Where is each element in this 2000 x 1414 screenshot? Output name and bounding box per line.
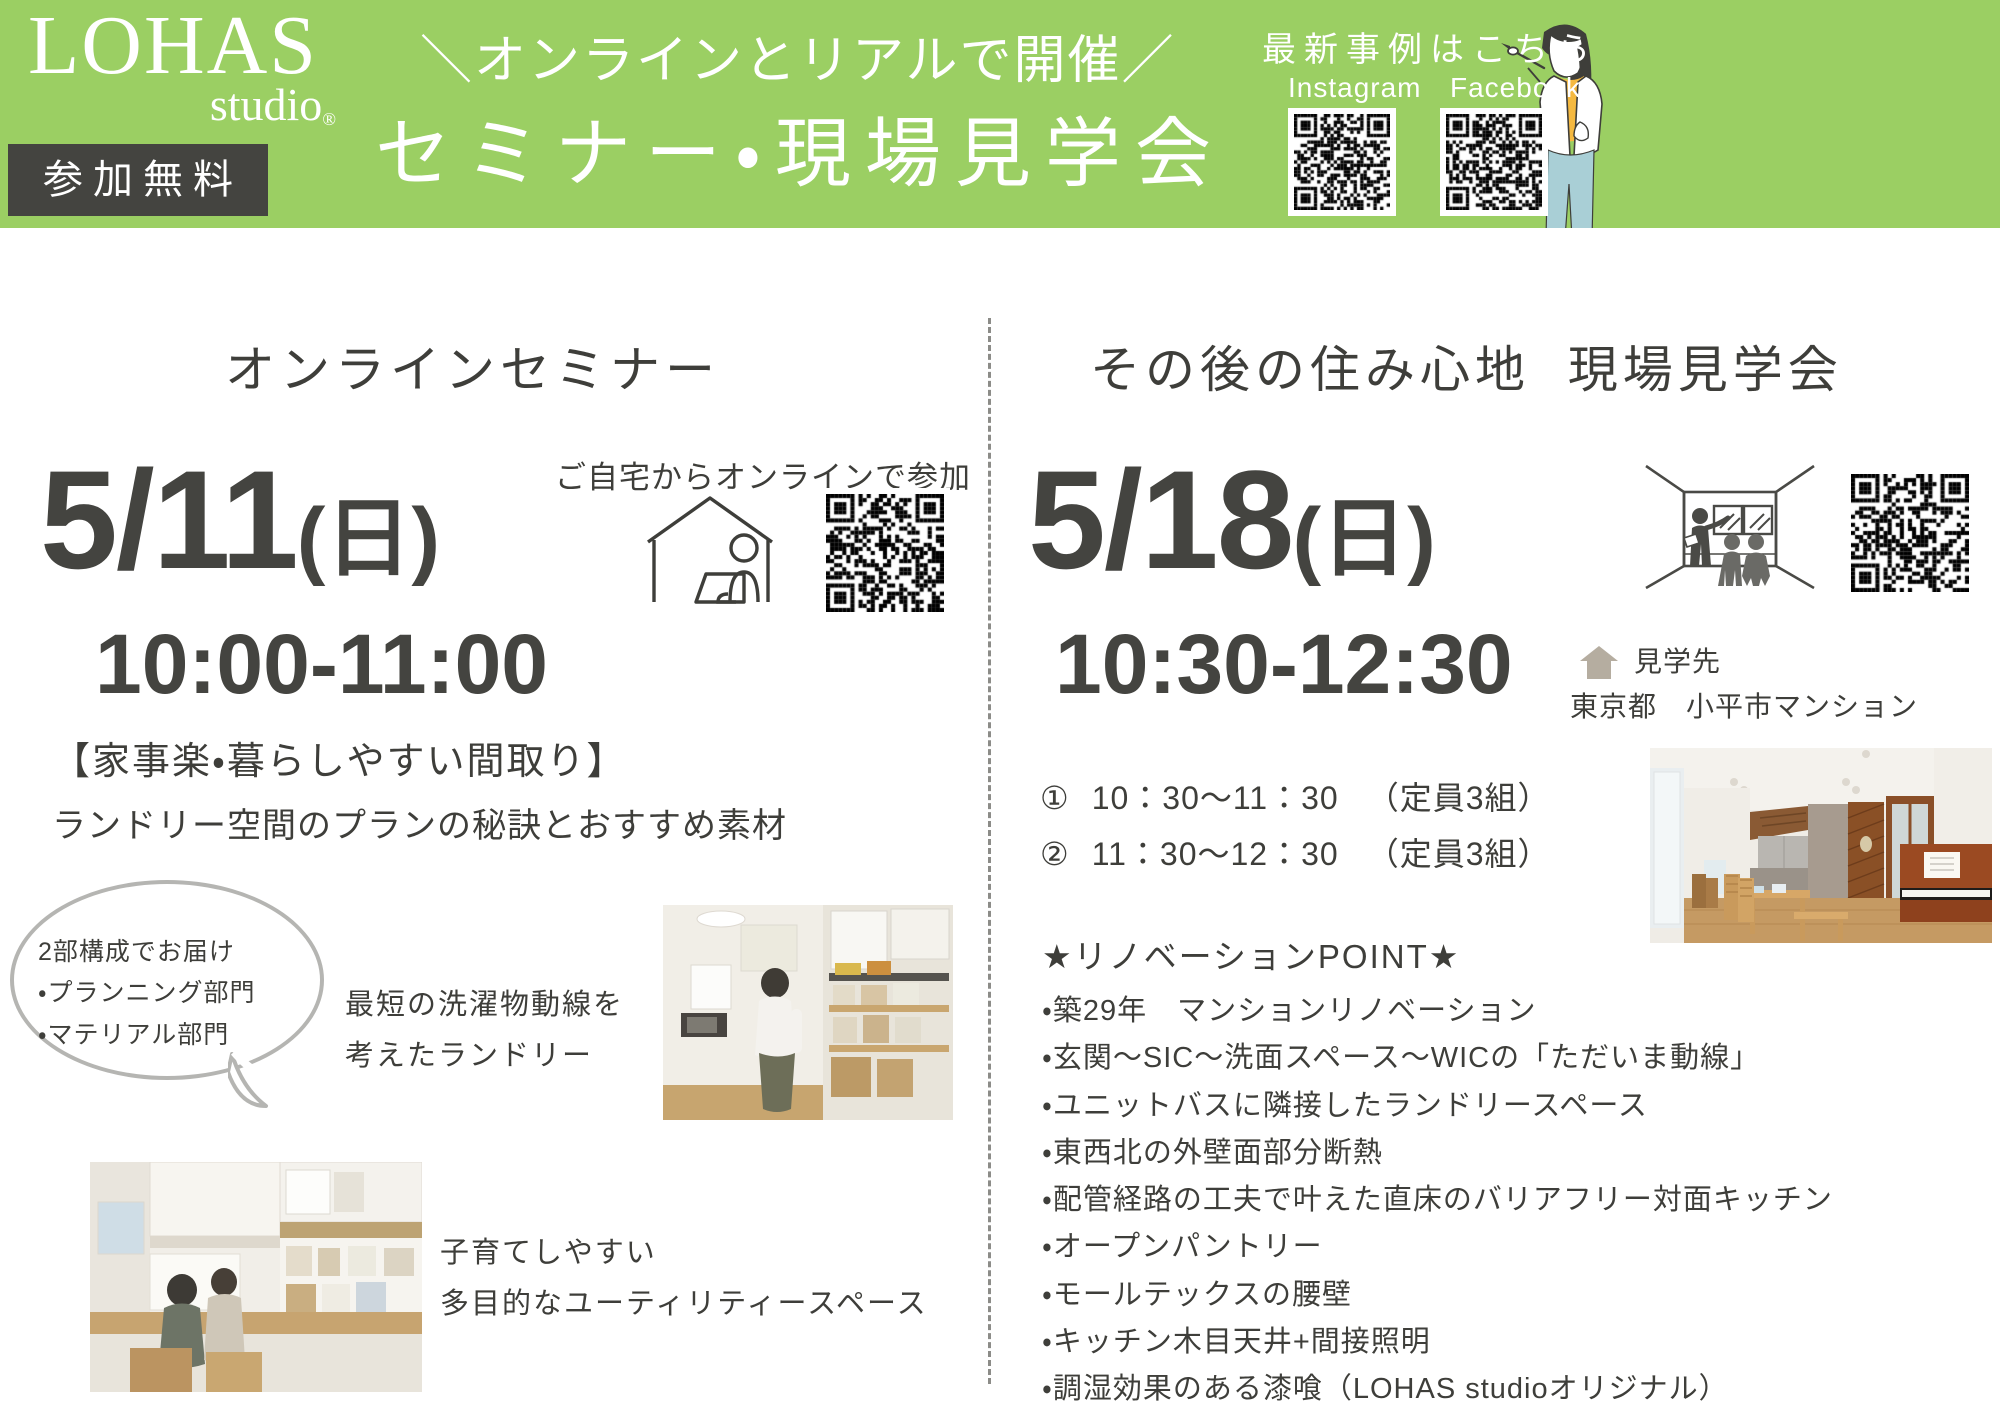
site-tour-time: 10:30-12:30 xyxy=(1055,622,1513,706)
list-item: ・築29年 マンションリノベーション xyxy=(1042,988,1833,1035)
bubble-line-2: ・マテリアル部門 xyxy=(38,1015,318,1056)
living-dining-photo xyxy=(1650,748,1992,943)
header-tagline: ＼オンラインとリアルで開催／ xyxy=(420,18,1140,93)
site-tour-qr-code[interactable] xyxy=(1845,468,1975,598)
laundry-photo-caption: 最短の洗濯物動線を 考えたランドリー xyxy=(345,980,624,1082)
slot-capacity: （定員3組） xyxy=(1367,836,1551,872)
tour-time-slots: ①10：30〜11：30（定員3組） ②11：30〜12：30（定員3組） xyxy=(1040,770,1551,882)
site-tour-heading-a: その後の住み心地 xyxy=(1090,342,1530,398)
renovation-points-list: ・築29年 マンションリノベーション ・玄関〜SIC〜洗面スペース〜WICの「た… xyxy=(1042,988,1833,1413)
seminar-structure-text: 2部構成でお届け ・プランニング部門 ・マテリアル部門 xyxy=(38,932,318,1056)
online-date-value: 5/11 xyxy=(40,441,297,598)
tour-slot-row: ②11：30〜12：30（定員3組） xyxy=(1040,826,1551,882)
bubble-line-0: 2部構成でお届け xyxy=(38,932,318,973)
site-tour-date: 5/18(日) xyxy=(1028,450,1436,590)
slot-number: ② xyxy=(1040,836,1070,872)
kitchen-pantry-photo xyxy=(663,905,953,1120)
free-participation-badge: 参加無料 xyxy=(8,144,268,216)
slot-capacity: （定員3組） xyxy=(1367,780,1551,816)
online-date-weekday: (日) xyxy=(297,491,440,587)
home-online-seminar-icon xyxy=(640,490,810,610)
caption2-line-1: 多目的なユーティリティースペース xyxy=(440,1279,928,1330)
venue-address: 東京都 小平市マンション xyxy=(1570,685,1918,725)
online-seminar-heading: オンラインセミナー xyxy=(225,330,720,402)
slot-time: 10：30〜11：30 xyxy=(1092,780,1339,816)
list-item: ・ユニットバスに隣接したランドリースペース xyxy=(1042,1083,1833,1130)
logo-main-text: LOHAS xyxy=(28,6,388,86)
seminar-flyer: LOHAS studio® 参加無料 ＼オンラインとリアルで開催／ セミナー・現… xyxy=(0,0,2000,1414)
tour-date-value: 5/18 xyxy=(1028,441,1292,598)
sns-label: 最新事例はこちら xyxy=(1262,22,1598,71)
site-tour-icon xyxy=(1640,462,1820,592)
instagram-label: Instagram xyxy=(1288,72,1422,104)
renovation-points-title: ★リノベーションPOINT★ xyxy=(1042,930,1460,978)
online-seminar-qr-code[interactable] xyxy=(820,488,950,618)
header-title: セミナー・現場見学会 xyxy=(375,92,1175,202)
facebook-qr-code[interactable] xyxy=(1440,108,1548,216)
lohas-studio-logo: LOHAS studio® xyxy=(28,6,388,128)
slot-time: 11：30〜12：30 xyxy=(1092,836,1339,872)
online-seminar-time: 10:00-11:00 xyxy=(95,622,548,706)
seminar-title: 【家事楽・暮らしやすい間取り】 xyxy=(52,730,627,785)
seminar-subtitle: ランドリー空間のプランの秘訣とおすすめ素材 xyxy=(52,798,787,847)
utility-space-photo xyxy=(90,1162,422,1392)
list-item: ・キッチン木目天井+間接照明 xyxy=(1042,1319,1833,1366)
list-item: ・玄関〜SIC〜洗面スペース〜WICの「ただいま動線」 xyxy=(1042,1035,1833,1082)
utility-photo-caption: 子育てしやすい 多目的なユーティリティースペース xyxy=(440,1228,928,1330)
list-item: ・調湿効果のある漆喰（LOHAS studioオリジナル） xyxy=(1042,1366,1833,1413)
house-icon xyxy=(1578,643,1620,681)
registered-mark: ® xyxy=(322,109,336,129)
slot-number: ① xyxy=(1040,780,1070,816)
header-banner: LOHAS studio® 参加無料 ＼オンラインとリアルで開催／ セミナー・現… xyxy=(0,0,2000,228)
bubble-line-1: ・プランニング部門 xyxy=(38,973,318,1014)
site-tour-heading: その後の住み心地 現場見学会 xyxy=(1090,330,1843,402)
instagram-qr-code[interactable] xyxy=(1288,108,1396,216)
caption1-line-0: 最短の洗濯物動線を xyxy=(345,980,624,1031)
venue-label: 見学先 xyxy=(1634,640,1721,680)
online-seminar-date: 5/11(日) xyxy=(40,450,440,590)
logo-sub-word: studio xyxy=(210,79,322,130)
column-divider xyxy=(988,318,991,1384)
bubble-tail xyxy=(228,1050,274,1110)
list-item: ・オープンパントリー xyxy=(1042,1224,1833,1271)
site-tour-heading-b: 現場見学会 xyxy=(1568,342,1843,398)
list-item: ・東西北の外壁面部分断熱 xyxy=(1042,1130,1833,1177)
tour-slot-row: ①10：30〜11：30（定員3組） xyxy=(1040,770,1551,826)
caption2-line-0: 子育てしやすい xyxy=(440,1228,928,1279)
caption1-line-1: 考えたランドリー xyxy=(345,1031,624,1082)
list-item: ・モールテックスの腰壁 xyxy=(1042,1272,1833,1319)
list-item: ・配管経路の工夫で叶えた直床のバリアフリー対面キッチン xyxy=(1042,1177,1833,1224)
tour-date-weekday: (日) xyxy=(1292,491,1435,587)
facebook-label: Facebook xyxy=(1450,72,1581,104)
